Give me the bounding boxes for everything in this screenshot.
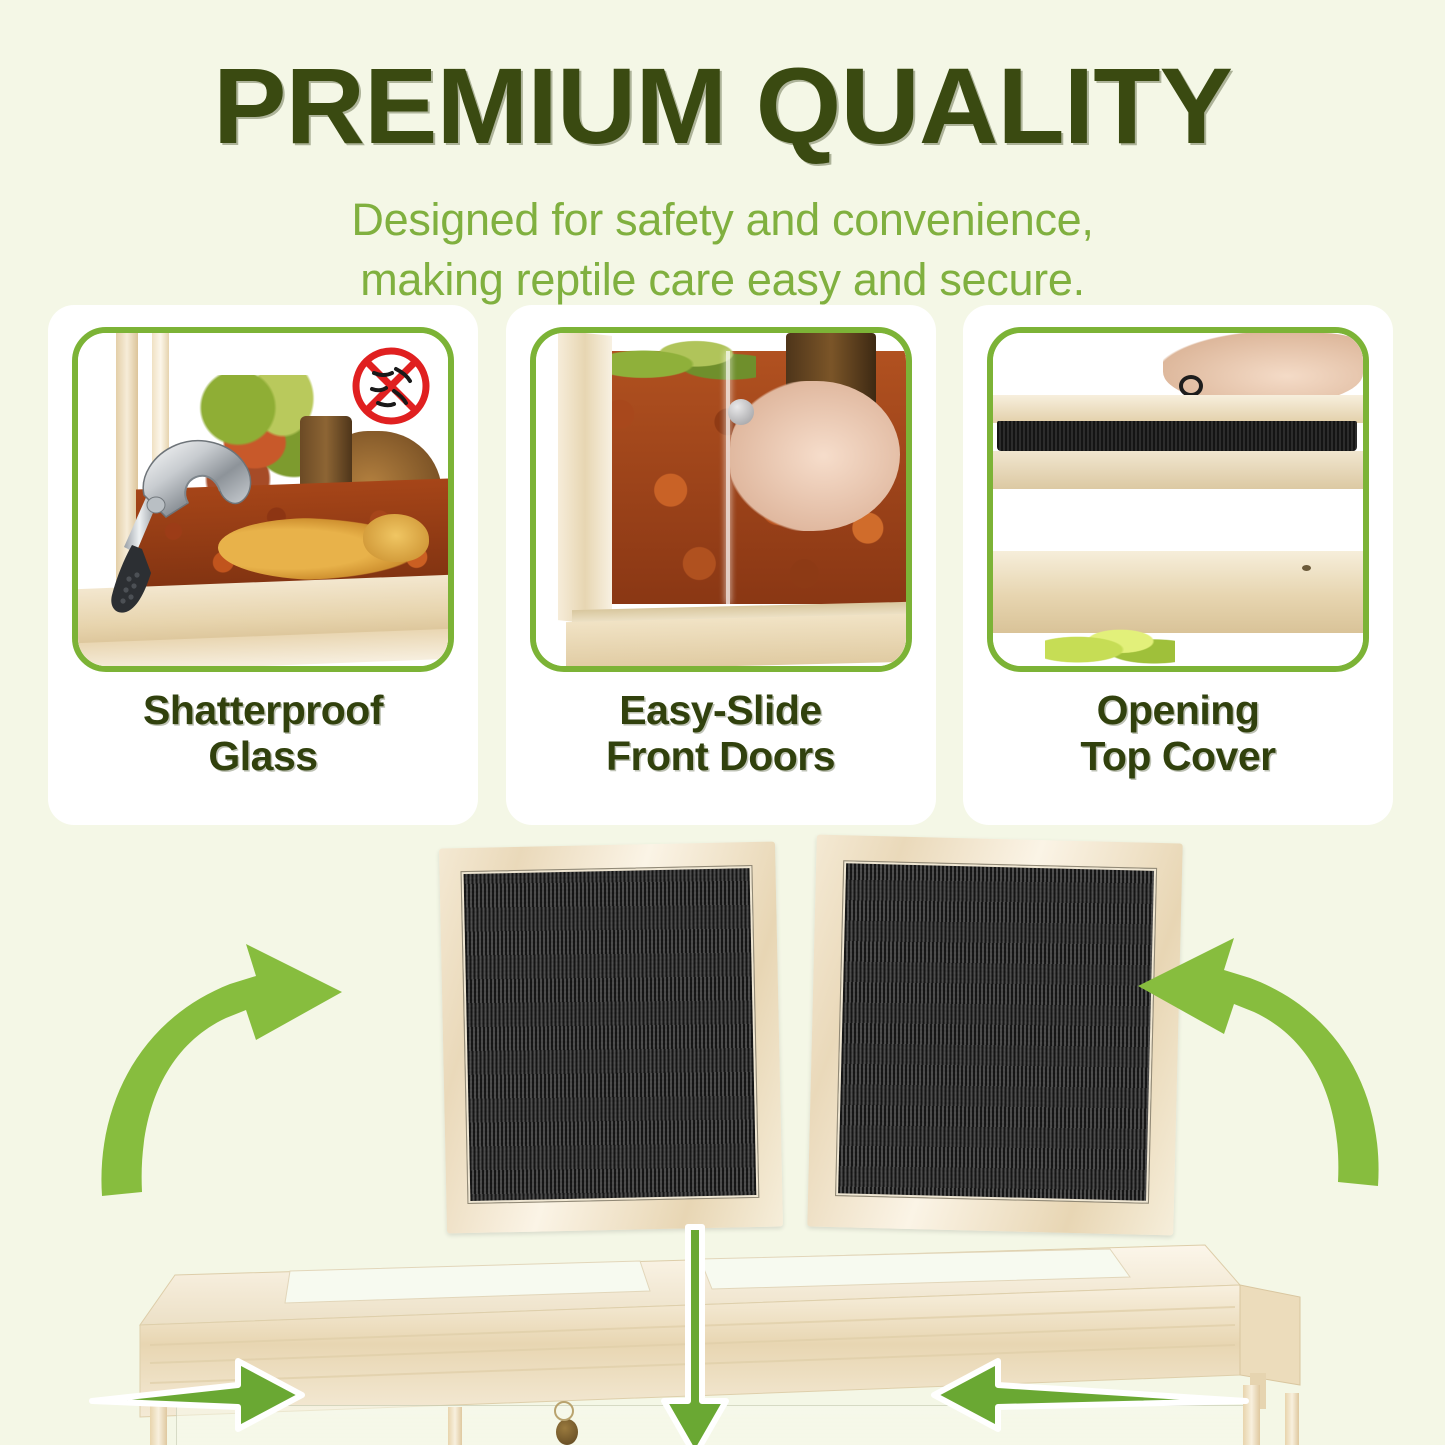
card-label-line-1: Shatterproof [143,688,383,734]
shatterproof-glass-photo [72,327,454,672]
left-inner-post [448,1407,462,1445]
ring-pull-icon [1179,375,1203,397]
page-title: PREMIUM QUALITY [0,52,1445,160]
door-knob-icon [728,399,754,425]
left-lid-screen [462,866,759,1203]
arrow-to-left-lid [80,900,440,1210]
arrow-to-right-lid [1040,900,1400,1200]
feature-card-label: Shatterproof Glass [143,688,383,780]
feature-card-easy-slide-front-doors: Easy-Slide Front Doors [506,305,936,825]
rear-right-post [1285,1393,1299,1445]
feature-card-label: Opening Top Cover [1080,688,1275,780]
door-latch-ring [554,1401,574,1421]
card-label-line-1: Opening [1080,688,1275,734]
feature-card-shatterproof-glass: Shatterproof Glass [48,305,478,825]
feature-card-label: Easy-Slide Front Doors [606,688,835,780]
opening-top-cover-photo [987,327,1369,672]
page-subtitle: Designed for safety and convenience, mak… [0,190,1445,310]
door-latch-icon[interactable] [556,1419,578,1445]
easy-slide-doors-photo [530,327,912,672]
subtitle-line-1: Designed for safety and convenience, [0,190,1445,250]
left-mesh-lid[interactable] [439,842,783,1234]
infographic-root: PREMIUM QUALITY Designed for safety and … [0,0,1445,1445]
arrow-left-side-door [88,1345,308,1445]
mesh-cover-edge [997,421,1357,451]
hammer-icon [96,383,271,628]
card-label-line-2: Front Doors [606,734,835,780]
feature-card-opening-top-cover: Opening Top Cover [963,305,1393,825]
card-label-line-2: Glass [143,734,383,780]
arrow-right-side-door [920,1345,1250,1445]
product-photo [0,825,1445,1445]
hand-sliding-door [730,381,900,531]
arrow-front-center [640,1225,750,1445]
feature-card-row: Shatterproof Glass Easy-Slide Front Door… [48,305,1393,825]
no-crack-icon [350,345,432,427]
card-label-line-1: Easy-Slide [606,688,835,734]
card-label-line-2: Top Cover [1080,734,1275,780]
subtitle-line-2: making reptile care easy and secure. [0,250,1445,310]
